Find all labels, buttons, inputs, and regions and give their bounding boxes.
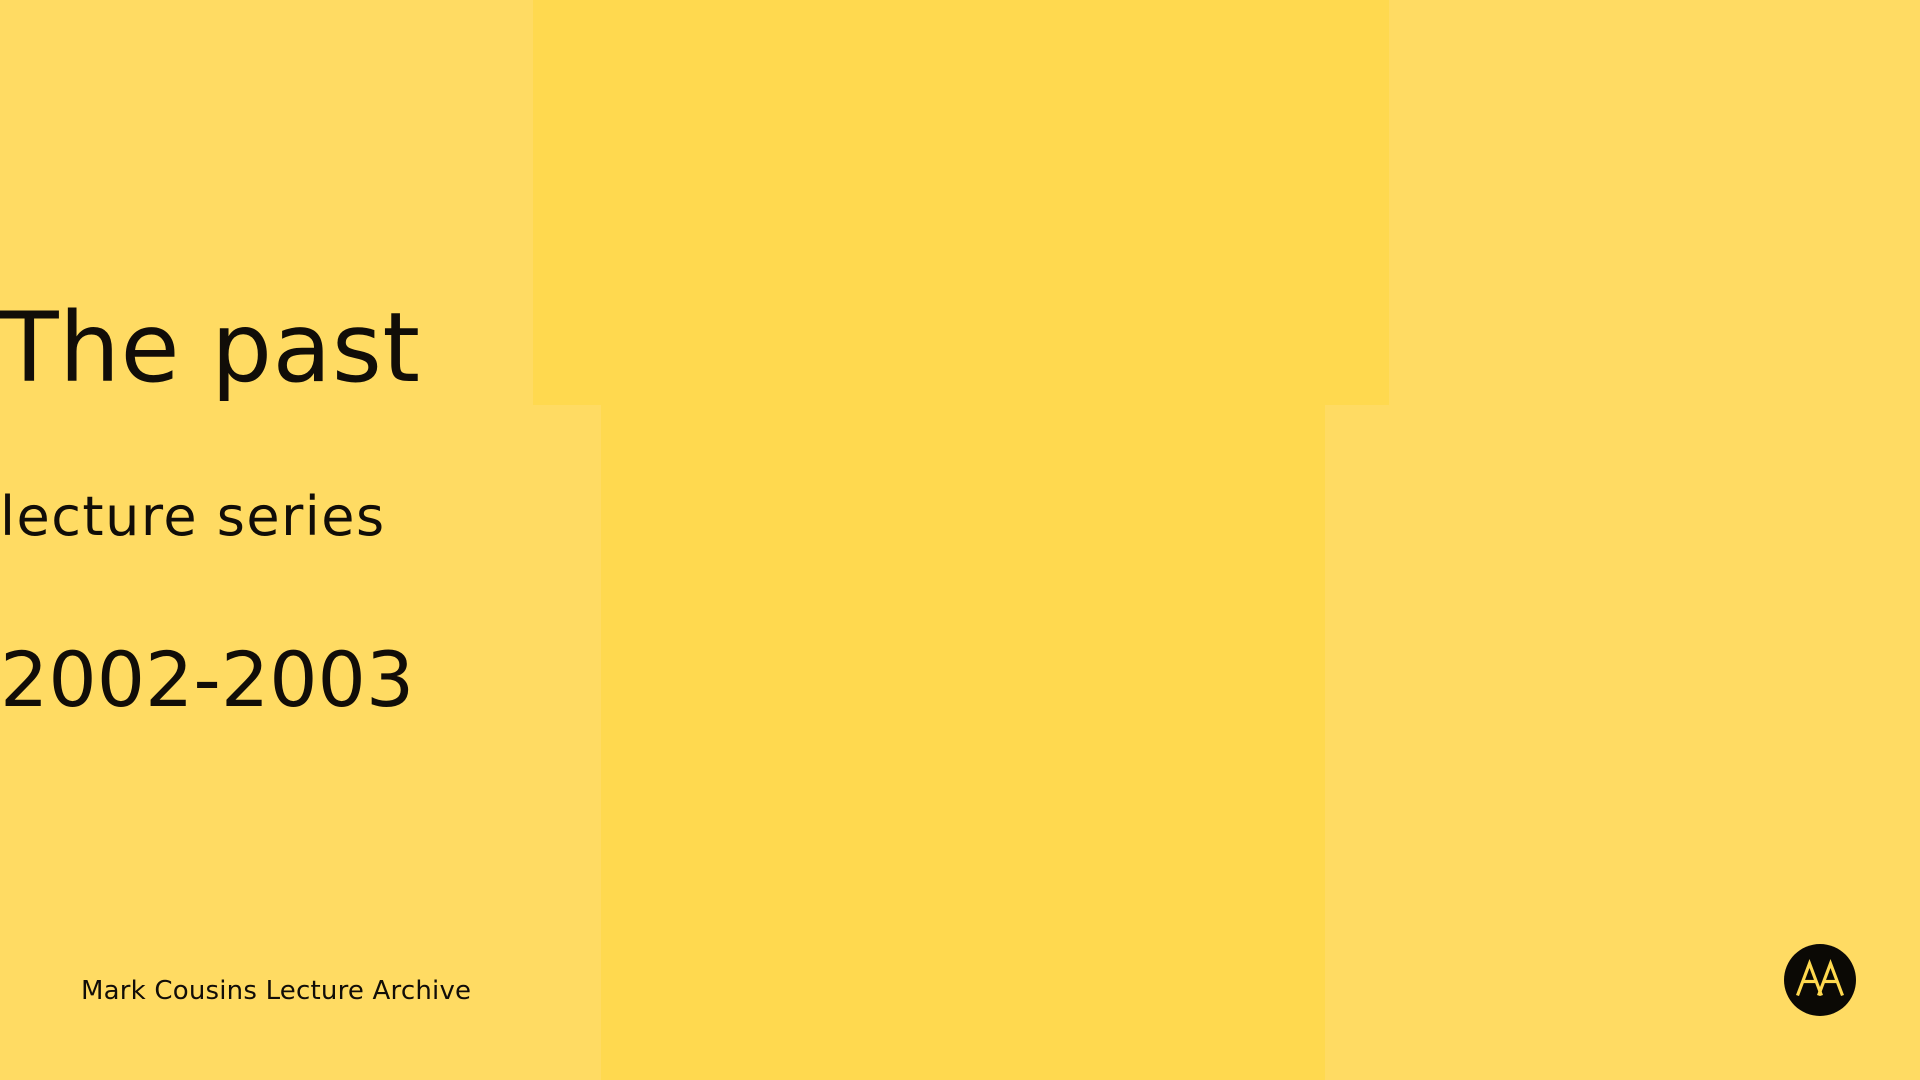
slide-subtitle: lecture series xyxy=(0,487,1920,546)
aa-logo xyxy=(1783,943,1857,1017)
slide-years: 2002-2003 xyxy=(0,638,1920,722)
presentation-slide: The past lecture series 2002-2003 Mark C… xyxy=(0,0,1920,1080)
archive-label: Mark Cousins Lecture Archive xyxy=(81,976,471,1006)
slide-title: The past xyxy=(0,296,1920,402)
